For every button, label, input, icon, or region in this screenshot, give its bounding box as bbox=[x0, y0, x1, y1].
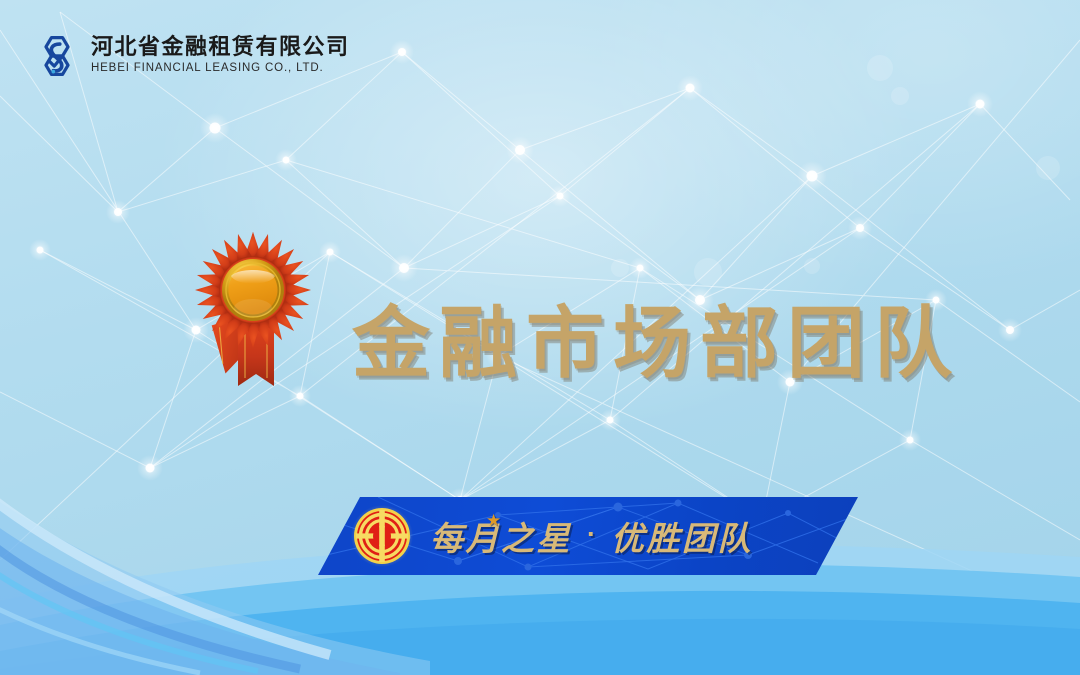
slide-canvas: 河北省金融租赁有限公司 HEBEI FINANCIAL LEASING CO.,… bbox=[0, 0, 1080, 675]
banner-separator: · bbox=[587, 519, 596, 550]
banner-text-block: 每月之星 · 优胜团队 bbox=[430, 497, 753, 575]
trade-union-emblem-icon bbox=[350, 504, 414, 568]
company-name-en: HEBEI FINANCIAL LEASING CO., LTD. bbox=[91, 63, 350, 75]
brand-text-block: 河北省金融租赁有限公司 HEBEI FINANCIAL LEASING CO.,… bbox=[91, 37, 350, 75]
hebei-financial-leasing-logo-icon bbox=[34, 33, 80, 79]
award-banner: 每月之星 · 优胜团队 ★ bbox=[318, 497, 858, 575]
brand-header: 河北省金融租赁有限公司 HEBEI FINANCIAL LEASING CO.,… bbox=[34, 33, 350, 79]
red-rosette-gold-medal-icon bbox=[178, 228, 328, 398]
company-name-cn: 河北省金融租赁有限公司 bbox=[91, 37, 350, 59]
star-icon: ★ bbox=[486, 511, 501, 531]
page-title: 金融市场部团队 bbox=[352, 281, 961, 393]
banner-text-right: 优胜团队 bbox=[611, 512, 753, 560]
